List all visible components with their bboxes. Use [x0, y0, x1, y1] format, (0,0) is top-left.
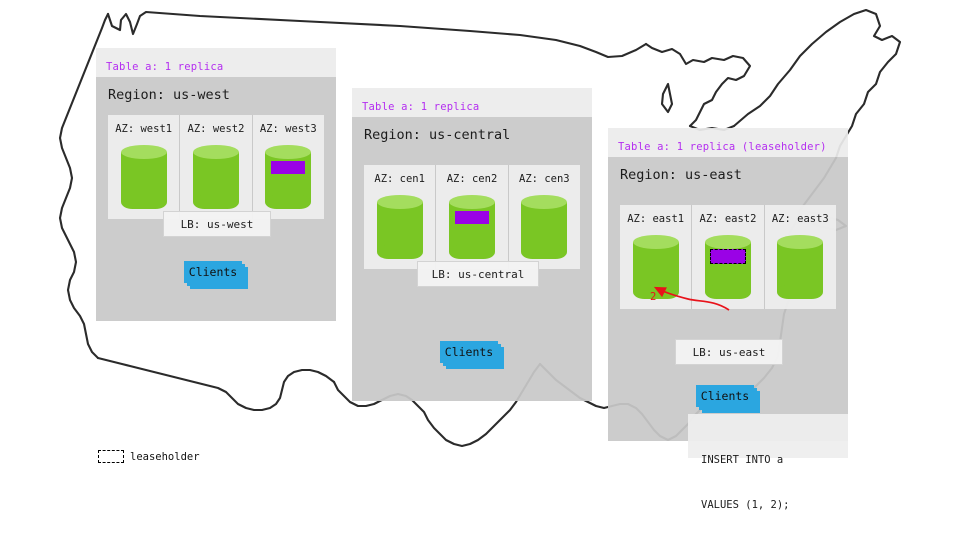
legend-leaseholder: leaseholder: [98, 450, 200, 463]
diagram-canvas: Table a: 1 replica Region: us-west AZ: w…: [0, 0, 960, 540]
legend-label: leaseholder: [130, 451, 200, 463]
dashed-rect-icon: [98, 450, 124, 463]
arrow-step-number: 2: [650, 291, 656, 303]
